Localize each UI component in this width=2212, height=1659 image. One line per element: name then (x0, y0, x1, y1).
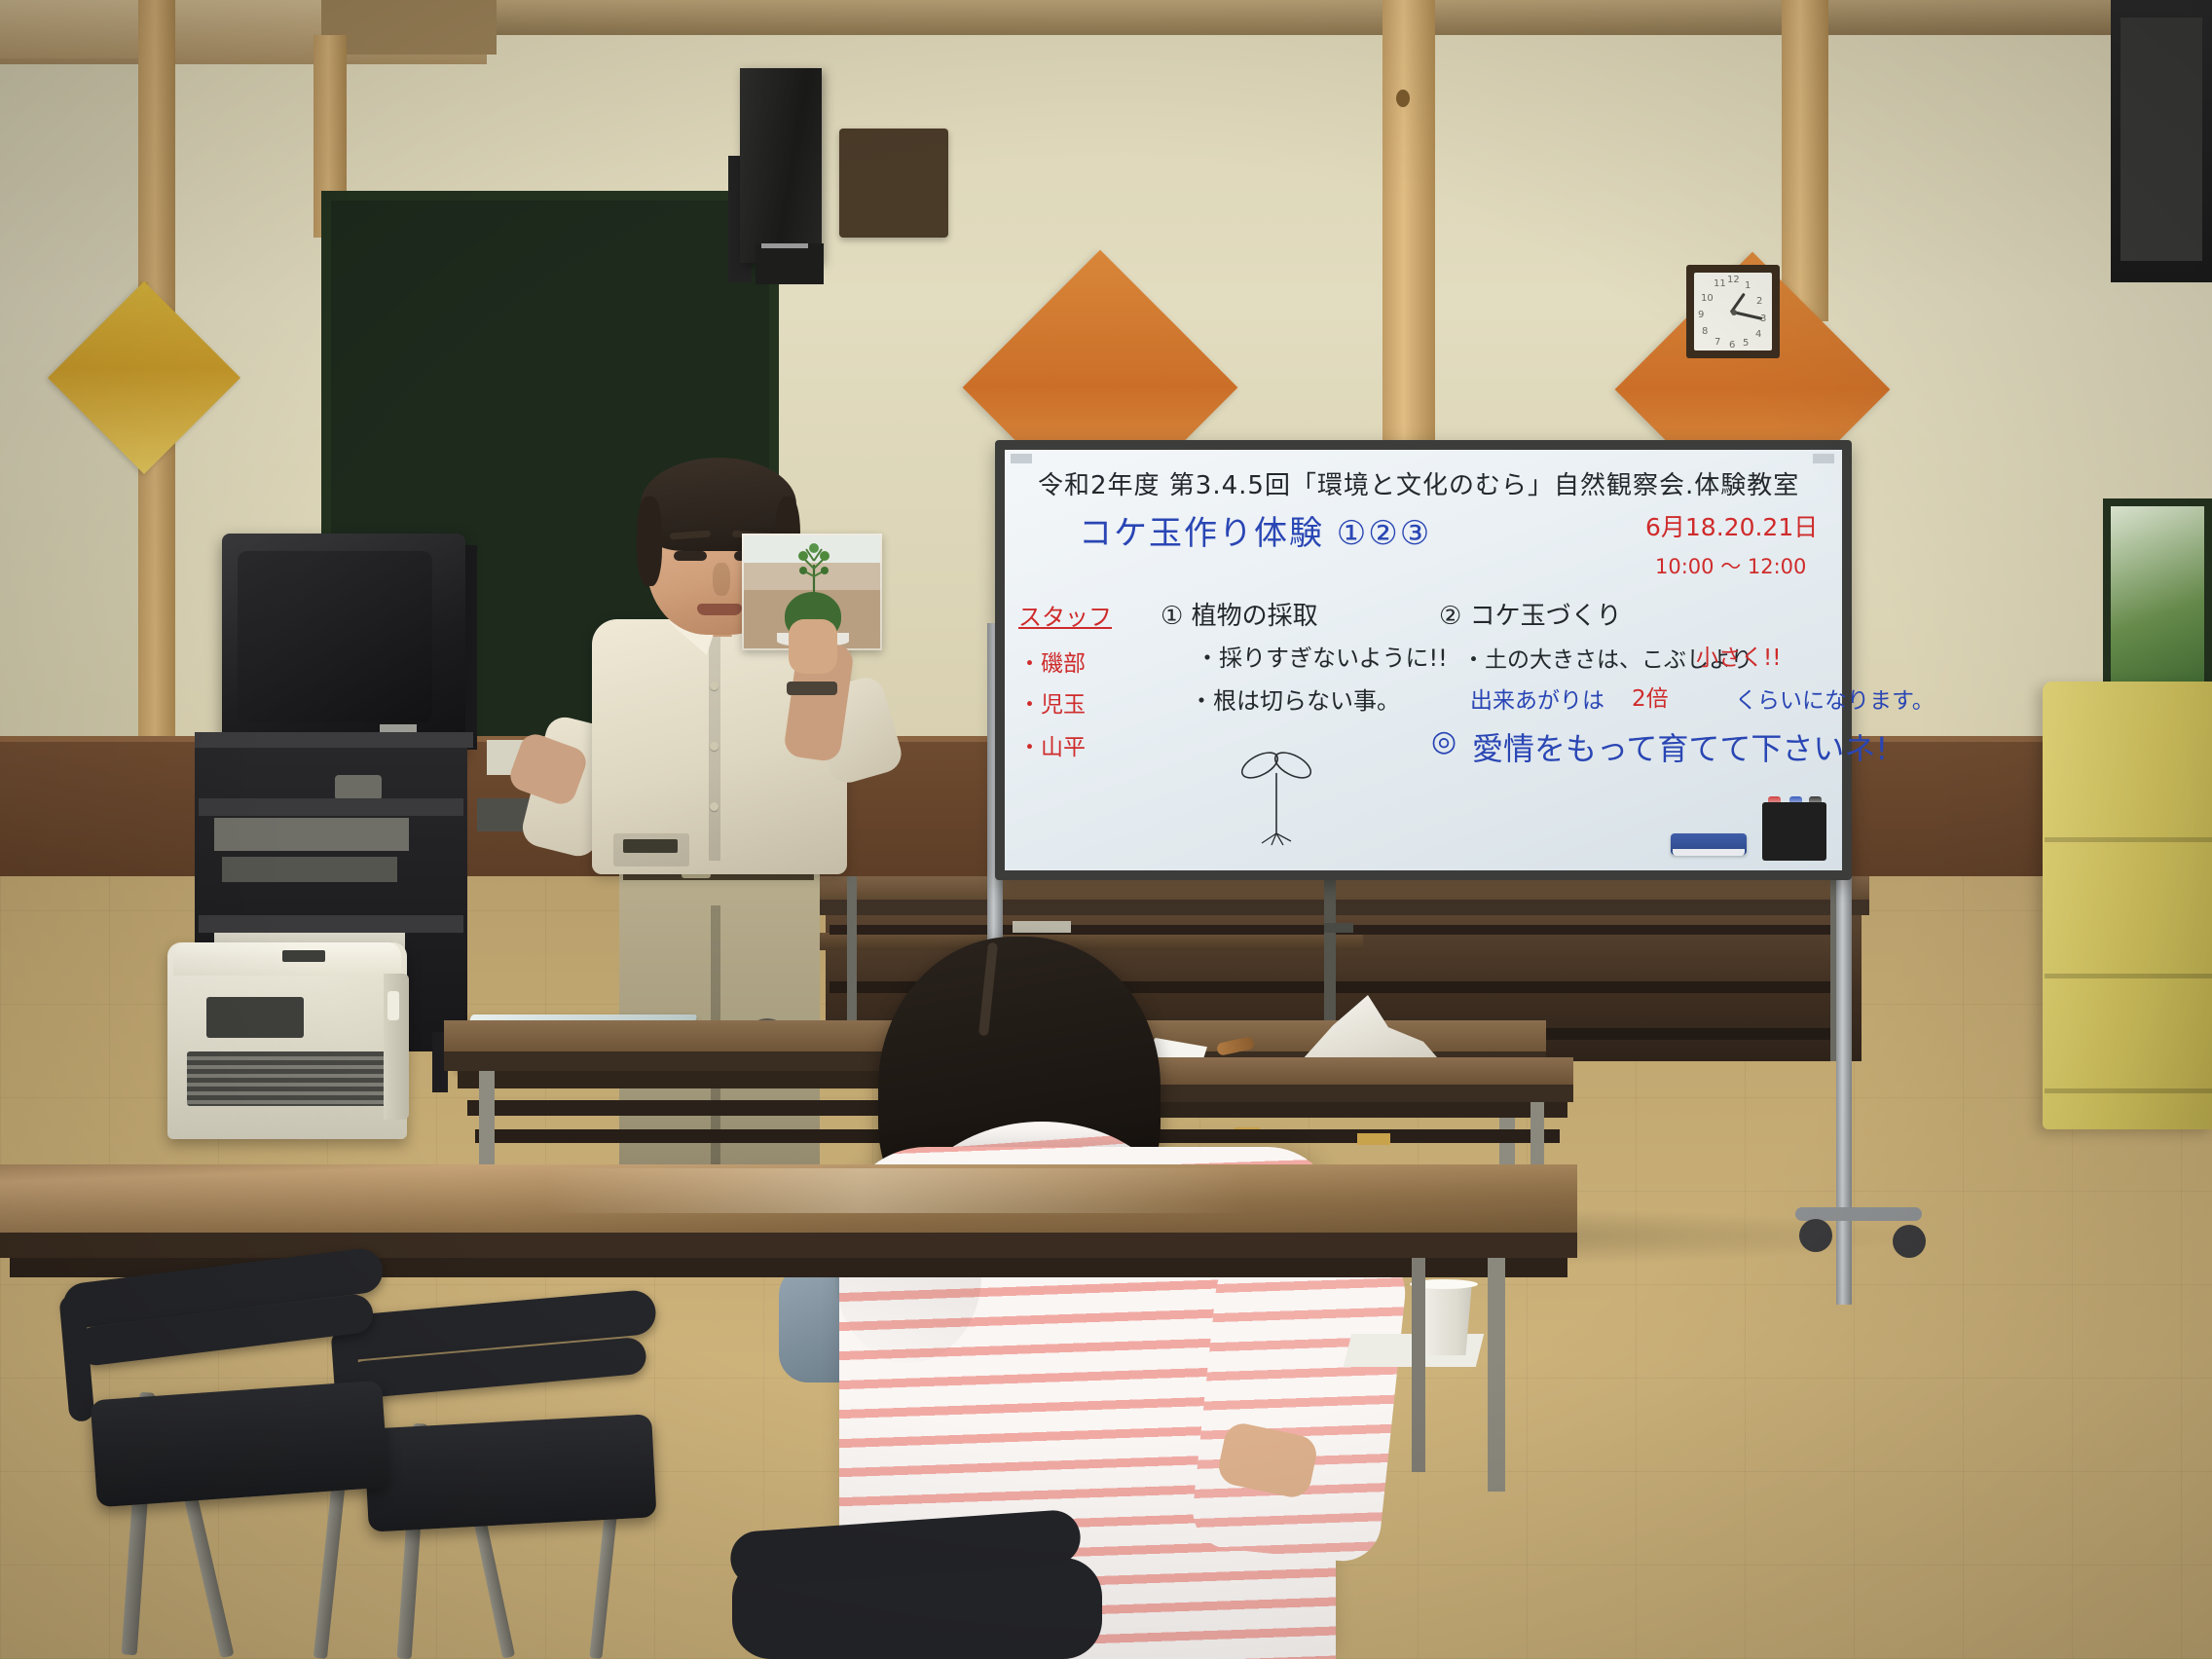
av-cart-shelf-lower (199, 915, 463, 933)
presenter-hair-left (637, 497, 662, 586)
whiteboard-corner-tr (1813, 454, 1834, 463)
ceiling-panel-inset (321, 0, 497, 55)
av-equipment-box (222, 857, 397, 882)
presenter-name-tag (623, 839, 678, 853)
whiteboard-closing-mark: ◎ (1431, 724, 1456, 758)
presenter-wristwatch (787, 682, 837, 695)
whiteboard-closing-message: 愛情をもって育てて下さいネ! (1472, 724, 1888, 769)
whiteboard-staff-heading: スタッフ (1018, 598, 1112, 632)
folded-table-second (818, 933, 1363, 950)
participant-table-latch (1357, 1133, 1390, 1145)
heater-handle[interactable] (387, 991, 399, 1020)
whiteboard-section2-line2-blue: 出来あがりは (1470, 682, 1604, 715)
top-right-panel-inner (2120, 18, 2202, 261)
wood-knot (1396, 90, 1410, 107)
whiteboard-staff-2: ・児玉 (1018, 685, 1086, 719)
whiteboard-section2-line2-blue-tail: くらいになります。 (1735, 682, 1935, 715)
participant-table-apron (1129, 1102, 1567, 1118)
whiteboard-eraser-felt (1673, 849, 1745, 856)
presenter-nose (713, 563, 730, 596)
whiteboard-date: 6月18.20.21日 (1645, 508, 1818, 543)
whiteboard-title: 令和2年度 第3.4.5回「環境と文化のむら」自然観察会.体験教室 (1038, 465, 1799, 501)
whiteboard-time: 10:00 ～ 12:00 (1655, 551, 1806, 580)
card-plant-icon (796, 543, 831, 598)
heater-display-panel (206, 997, 304, 1038)
whiteboard-section2-line1-red: 小さく!! (1696, 639, 1781, 672)
cushion-seam-1 (2045, 837, 2212, 842)
participant-table-edge (1120, 1085, 1573, 1102)
marker-holder (1762, 802, 1826, 861)
whiteboard-section1-line2: ・根は切らない事。 (1190, 682, 1400, 716)
sprout-doodle-icon (1233, 740, 1320, 847)
whiteboard-section1-line1: ・採りすぎないように!! (1196, 639, 1448, 673)
folded-table-edge (818, 900, 1869, 915)
whiteboard-section2-heading: ② コケ玉づくり (1439, 596, 1622, 632)
clock-numeral-7: 7 (1714, 337, 1720, 348)
participant-table-top (1120, 1057, 1573, 1087)
clock-numeral-1: 1 (1745, 280, 1751, 291)
shirt-button-3 (710, 802, 719, 811)
whiteboard-section2-line2-red: 2倍 (1632, 680, 1669, 713)
participant-table-rail (1137, 1129, 1560, 1143)
whiteboard-subtitle: コケ玉作り体験 ①②③ (1079, 506, 1431, 554)
wall-clock: 12 1 2 3 4 5 6 7 8 9 10 11 (839, 129, 948, 238)
chair-2-seat[interactable] (363, 1414, 656, 1531)
folded-table-clip-2 (1324, 923, 1353, 933)
heater-vent-grille (187, 1051, 389, 1106)
clock-numeral-9: 9 (1698, 310, 1704, 320)
wood-post-center (1382, 0, 1435, 458)
whiteboard-staff-3: ・山平 (1018, 728, 1086, 761)
clock-numeral-5: 5 (1743, 338, 1749, 349)
whiteboard-staff-1: ・磯部 (1018, 645, 1086, 678)
clock-numeral-2: 2 (1756, 296, 1762, 307)
speaker-slot (761, 243, 808, 248)
foreground-table-edge (0, 1233, 1577, 1258)
whiteboard-section1-heading: ① 植物の採取 (1161, 596, 1318, 632)
window-right-frame (2103, 498, 2212, 709)
foreground-table-leg-right (1488, 1258, 1505, 1492)
television-screen (238, 551, 432, 722)
wall-speaker (740, 68, 822, 263)
clock-center-pin (1731, 310, 1737, 315)
av-cart-knob (335, 775, 382, 800)
stacked-yellow-cushions (2043, 682, 2212, 1129)
av-equipment-deck (214, 818, 409, 851)
av-cart-shelf-upper (199, 798, 463, 816)
whiteboard-caster-4 (1893, 1225, 1926, 1258)
clock-numeral-12: 12 (1727, 275, 1740, 285)
cushion-seam-2 (2045, 974, 2212, 978)
wood-post-right (1782, 0, 1828, 321)
heater-control[interactable] (282, 950, 325, 962)
av-cart-top (195, 732, 473, 748)
shirt-button-1 (710, 682, 719, 690)
presenter-right-hand (789, 619, 837, 674)
shirt-button-2 (710, 742, 719, 751)
clock-numeral-4: 4 (1755, 329, 1761, 340)
presenter-mouth (697, 604, 742, 615)
clock-numeral-8: 8 (1702, 326, 1708, 337)
room-photo-scene: 12 1 2 3 4 5 6 7 8 9 10 11 (0, 0, 2212, 1659)
whiteboard-caster-3 (1799, 1219, 1832, 1252)
clock-numeral-6: 6 (1729, 340, 1735, 350)
presenter-eye-left (674, 551, 707, 561)
foreground-table-highlight (545, 1168, 1246, 1213)
whiteboard-corner-tl (1011, 454, 1032, 463)
wall-speaker-lower (756, 243, 824, 284)
clock-numeral-10: 10 (1701, 293, 1714, 304)
chair-1-seat[interactable] (91, 1381, 389, 1508)
foreground-table-leg-right-2 (1412, 1258, 1425, 1472)
clock-numeral-11: 11 (1714, 278, 1726, 289)
cushion-seam-3 (2045, 1088, 2212, 1093)
folded-table-clip (1013, 921, 1071, 933)
